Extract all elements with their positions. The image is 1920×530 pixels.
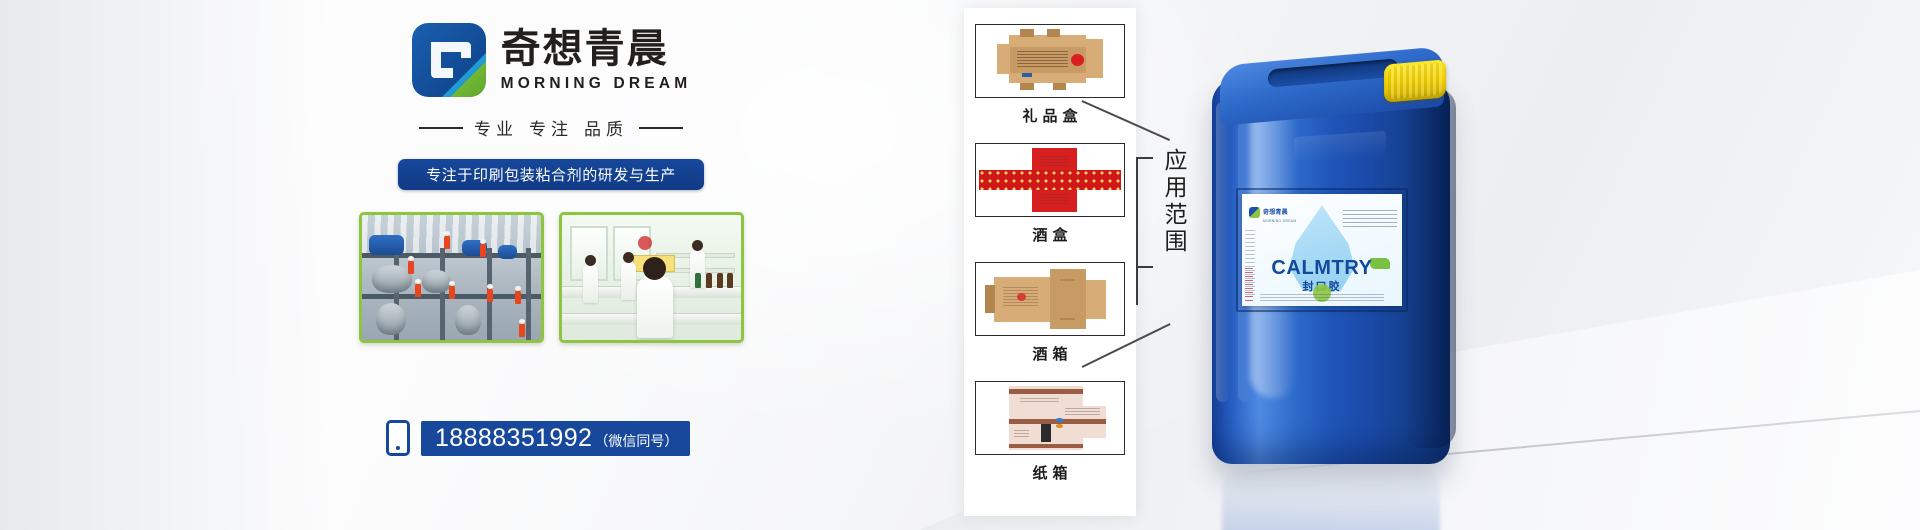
can-cap-icon (1384, 59, 1446, 102)
product-jerrycan: 奇想青晨 MORNING DREAM CALMTRY 封口胶 (1198, 42, 1470, 494)
can-rib-1 (1216, 102, 1230, 402)
bracket-line (1136, 157, 1138, 305)
contact-row[interactable]: 18888351992 （微信同号） (386, 420, 690, 456)
morning-dream-logo-icon (411, 22, 487, 98)
gift-box-dieline (975, 24, 1125, 98)
application-panel: 礼品盒 酒盒 (964, 8, 1136, 516)
application-item-wine-carton[interactable]: 酒箱 (975, 262, 1125, 364)
product-label: 奇想青晨 MORNING DREAM CALMTRY 封口胶 (1242, 194, 1402, 306)
background-left-shade (0, 0, 330, 530)
label-logo-subtext: MORNING DREAM (1263, 219, 1296, 223)
wine-carton-dieline (975, 262, 1125, 336)
label-logo-text: 奇想青晨 (1263, 210, 1288, 216)
label-logo: 奇想青晨 MORNING DREAM (1249, 201, 1296, 223)
application-label-wine-carton: 酒箱 (975, 343, 1125, 364)
brand-block: 奇想青晨 MORNING DREAM 专业 专注 品质 专注于印刷包装粘合剂的研… (336, 22, 766, 343)
logo-name-en: MORNING DREAM (501, 75, 692, 93)
slogan-word-1: 专业 (474, 115, 518, 140)
phone-note: （微信同号） (594, 424, 678, 459)
can-right-shadow (1402, 88, 1456, 448)
application-item-wine-box[interactable]: 酒盒 (975, 143, 1125, 245)
application-label-wine-box: 酒盒 (975, 224, 1125, 245)
tagline-banner: 专注于印刷包装粘合剂的研发与生产 (398, 159, 704, 190)
phone-number: 18888351992 (435, 421, 592, 456)
bracket-tick-bottom (1136, 266, 1153, 268)
slogan-rule-left (419, 127, 463, 129)
laboratory-photo (559, 212, 744, 343)
photo-row (336, 212, 766, 343)
label-brand: CALMTRY (1242, 257, 1402, 280)
slogan-rule-right (639, 127, 683, 129)
logo-wordmark: 奇想青晨 MORNING DREAM (501, 28, 692, 93)
logo-row: 奇想青晨 MORNING DREAM (336, 22, 766, 98)
application-item-paper-carton[interactable]: 纸箱 (975, 381, 1125, 483)
slogan-word-3: 品质 (584, 115, 628, 140)
label-logo-icon (1249, 207, 1260, 218)
bracket-tick-top (1136, 157, 1153, 159)
slogan-word-2: 专注 (529, 115, 573, 140)
factory-photo (359, 212, 544, 343)
paper-carton-dieline (975, 381, 1125, 455)
label-spec-text (1343, 210, 1397, 230)
logo-name-cn: 奇想青晨 (501, 28, 669, 70)
can-reflection (1222, 466, 1440, 530)
promo-banner: 奇想青晨 MORNING DREAM 专业 专注 品质 专注于印刷包装粘合剂的研… (0, 0, 1920, 530)
application-heading: 应用范围 (1158, 148, 1188, 256)
label-footer-text (1260, 294, 1384, 303)
application-label-paper-carton: 纸箱 (975, 462, 1125, 483)
phone-plate[interactable]: 18888351992 （微信同号） (421, 421, 690, 456)
mobile-phone-icon (386, 420, 410, 456)
slogan-row: 专业 专注 品质 (336, 115, 766, 140)
wine-box-dieline (975, 143, 1125, 217)
